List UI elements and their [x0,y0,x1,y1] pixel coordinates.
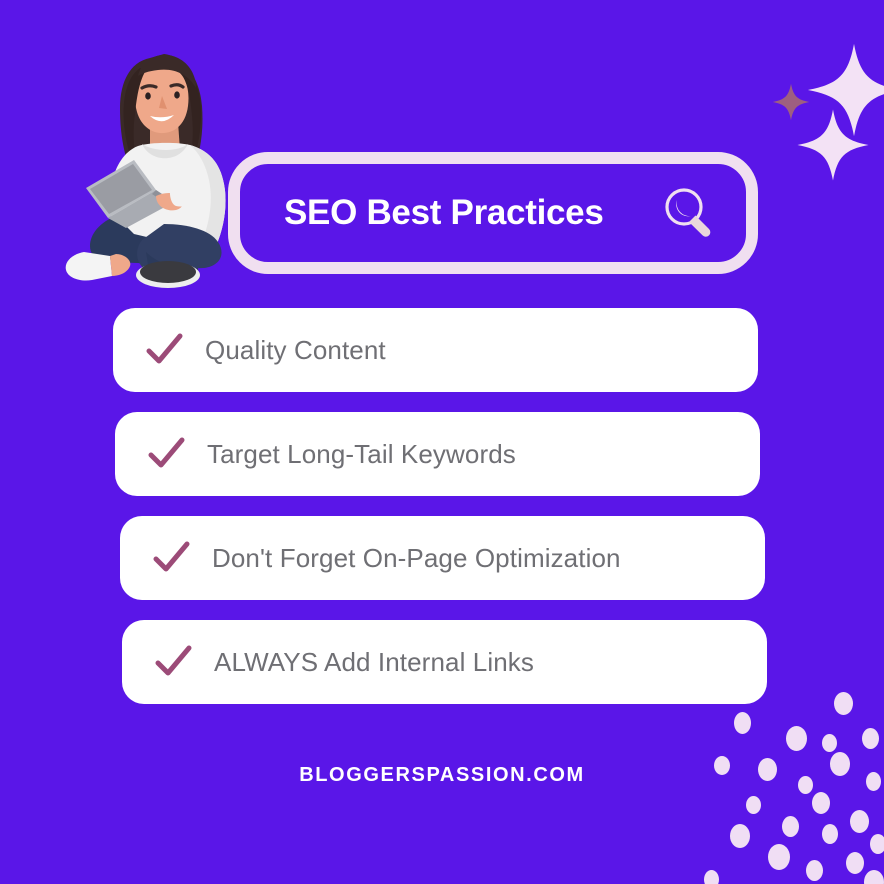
footer-brand: BLOGGERSPASSION.COM [0,764,884,787]
check-icon [150,639,196,685]
checklist-label: Quality Content [205,335,386,366]
search-bar[interactable]: SEO Best Practices [228,152,758,274]
checklist-card[interactable]: Target Long-Tail Keywords [115,412,760,496]
check-icon [141,327,187,373]
checklist-card[interactable]: Quality Content [113,308,758,392]
page-title: SEO Best Practices [284,193,658,233]
checklist-label: Target Long-Tail Keywords [207,439,516,470]
sparkle-small-icon [772,83,810,121]
checklist-card[interactable]: ALWAYS Add Internal Links [122,620,767,704]
infographic-canvas: SEO Best Practices Quality Content Targe… [0,0,884,884]
checklist-card[interactable]: Don't Forget On-Page Optimization [120,516,765,600]
magnifier-icon[interactable] [658,182,720,244]
checklist-label: Don't Forget On-Page Optimization [212,543,621,574]
checklist-label: ALWAYS Add Internal Links [214,647,534,678]
check-icon [143,431,189,477]
check-icon [148,535,194,581]
